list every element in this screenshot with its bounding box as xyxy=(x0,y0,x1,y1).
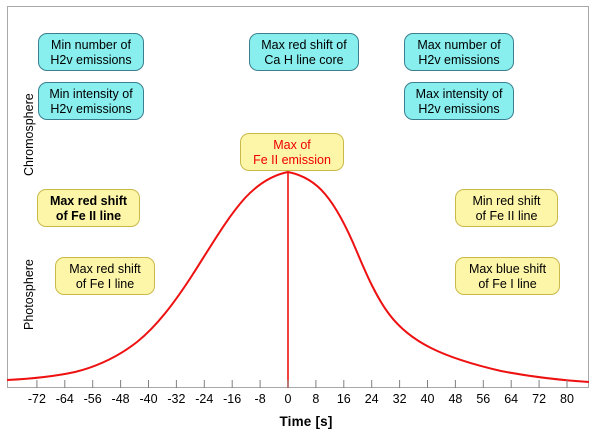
callout-max-red-shift-ca-h: Max red shift of Ca H line core xyxy=(249,33,359,71)
x-axis-tick-labels: -72-64-56-48-40-32-24-16-808162432404856… xyxy=(0,392,600,412)
x-axis-title-text: Time [s] xyxy=(279,414,332,429)
callout-line-2: H2v emissions xyxy=(405,53,513,68)
callout-line-2: of Fe II line xyxy=(38,209,139,224)
callout-line-2: H2v emissions xyxy=(39,102,143,117)
callout-line-1: Max red shift xyxy=(38,194,139,209)
callout-max-number-h2v: Max number of H2v emissions xyxy=(404,33,514,71)
callout-line-2: Fe II emission xyxy=(241,153,343,168)
region-label-photosphere-text: Photosphere xyxy=(22,259,36,330)
callout-min-intensity-h2v: Min intensity of H2v emissions xyxy=(38,82,144,120)
callout-min-number-h2v: Min number of H2v emissions xyxy=(38,33,144,71)
callout-max-red-shift-fe-i: Max red shift of Fe I line xyxy=(55,257,155,295)
region-label-chromosphere: Chromosphere xyxy=(22,93,36,176)
callout-line-2: H2v emissions xyxy=(405,102,513,117)
callout-line-1: Max of xyxy=(241,138,343,153)
callout-line-1: Max red shift of xyxy=(250,38,358,53)
callout-line-2: of Fe I line xyxy=(56,277,154,292)
callout-line-1: Max intensity of xyxy=(405,87,513,102)
callout-line-1: Max blue shift xyxy=(456,262,559,277)
callout-line-2: Ca H line core xyxy=(250,53,358,68)
callout-line-1: Min intensity of xyxy=(39,87,143,102)
x-axis-title: Time [s] xyxy=(0,414,600,429)
x-axis-tick-label: 80 xyxy=(547,392,587,406)
callout-line-1: Max number of xyxy=(405,38,513,53)
callout-line-2: of Fe II line xyxy=(456,209,557,224)
callout-min-red-shift-fe-ii: Min red shift of Fe II line xyxy=(455,189,558,227)
callout-max-blue-shift-fe-i: Max blue shift of Fe I line xyxy=(455,257,560,295)
region-label-photosphere: Photosphere xyxy=(22,259,36,330)
callout-line-1: Min red shift xyxy=(456,194,557,209)
callout-max-intensity-h2v: Max intensity of H2v emissions xyxy=(404,82,514,120)
callout-line-2: H2v emissions xyxy=(39,53,143,68)
callout-line-1: Max red shift xyxy=(56,262,154,277)
callout-max-red-shift-fe-ii: Max red shift of Fe II line xyxy=(37,189,140,227)
solar-oscillation-diagram: Chromosphere Photosphere Min number of H… xyxy=(0,0,600,437)
callout-line-1: Min number of xyxy=(39,38,143,53)
region-label-chromosphere-text: Chromosphere xyxy=(22,93,36,176)
callout-line-2: of Fe I line xyxy=(456,277,559,292)
callout-max-fe-ii-emission: Max of Fe II emission xyxy=(240,133,344,171)
